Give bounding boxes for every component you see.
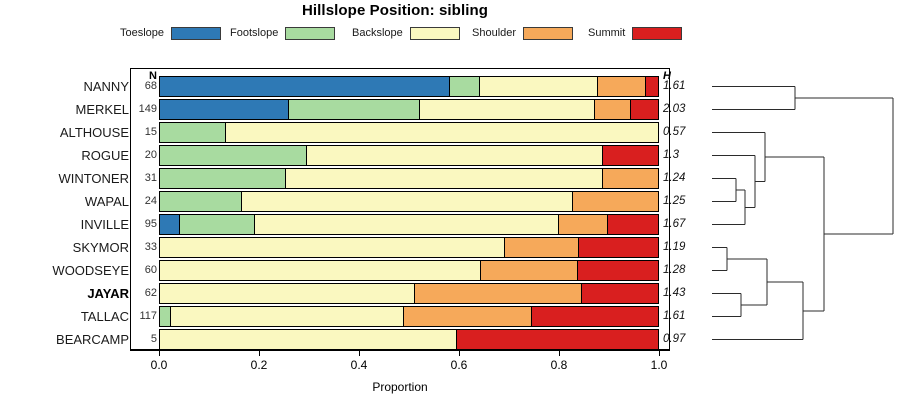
bar-segment-summit bbox=[646, 77, 658, 96]
bar-segment-backslope bbox=[160, 330, 457, 349]
legend-item-summit: Summit bbox=[588, 24, 682, 42]
legend-label: Toeslope bbox=[120, 27, 164, 39]
stacked-bar bbox=[159, 145, 659, 166]
bar-segment-backslope bbox=[242, 192, 574, 211]
bar-segment-summit bbox=[578, 261, 658, 280]
bar-segment-shoulder bbox=[559, 215, 608, 234]
stacked-bar bbox=[159, 168, 659, 189]
bar-segment-shoulder bbox=[598, 77, 646, 96]
row-label-tallac: TALLAC bbox=[0, 305, 129, 328]
bar-segment-footslope bbox=[180, 215, 255, 234]
bar-segment-backslope bbox=[420, 100, 595, 119]
stacked-bar bbox=[159, 306, 659, 327]
bar-segment-footslope bbox=[160, 146, 307, 165]
bar-segment-toeslope bbox=[160, 215, 180, 234]
bar-segment-shoulder bbox=[573, 192, 658, 211]
row-n-value: 33 bbox=[133, 236, 157, 259]
row-label-althouse: ALTHOUSE bbox=[0, 121, 129, 144]
row-label-wintoner: WINTONER bbox=[0, 167, 129, 190]
x-tick-label: 0.2 bbox=[229, 358, 289, 372]
bar-segment-toeslope bbox=[160, 100, 289, 119]
legend-swatch bbox=[523, 27, 573, 40]
row-label-nanny: NANNY bbox=[0, 75, 129, 98]
legend-item-backslope: Backslope bbox=[352, 24, 460, 42]
row-label-inville: INVILLE bbox=[0, 213, 129, 236]
row-label-rogue: ROGUE bbox=[0, 144, 129, 167]
row-label-wapal: WAPAL bbox=[0, 190, 129, 213]
row-n-value: 5 bbox=[133, 328, 157, 351]
row-n-value: 149 bbox=[133, 98, 157, 121]
bar-segment-summit bbox=[608, 215, 658, 234]
x-tick-label: 1.0 bbox=[629, 358, 689, 372]
row-n-value: 31 bbox=[133, 167, 157, 190]
legend-label: Shoulder bbox=[472, 27, 516, 39]
bar-segment-backslope bbox=[160, 284, 415, 303]
legend-item-shoulder: Shoulder bbox=[472, 24, 573, 42]
bar-segment-summit bbox=[457, 330, 658, 349]
stacked-bar bbox=[159, 122, 659, 143]
bar-segment-shoulder bbox=[404, 307, 532, 326]
bar-segment-shoulder bbox=[415, 284, 582, 303]
row-label-bearcamp: BEARCAMP bbox=[0, 328, 129, 351]
stacked-bar bbox=[159, 283, 659, 304]
row-label-jayar: JAYAR bbox=[0, 282, 129, 305]
bar-segment-summit bbox=[582, 284, 658, 303]
bar-segment-shoulder bbox=[595, 100, 631, 119]
row-n-value: 117 bbox=[133, 305, 157, 328]
bar-segment-footslope bbox=[289, 100, 419, 119]
row-n-value: 62 bbox=[133, 282, 157, 305]
row-n-value: 24 bbox=[133, 190, 157, 213]
bar-segment-backslope bbox=[160, 238, 505, 257]
x-tick-label: 0.4 bbox=[329, 358, 389, 372]
chart-title: Hillslope Position: sibling bbox=[0, 2, 790, 19]
bar-segment-backslope bbox=[226, 123, 658, 142]
stacked-bar bbox=[159, 191, 659, 212]
legend-label: Footslope bbox=[230, 27, 278, 39]
bar-segment-footslope bbox=[160, 169, 286, 188]
legend-label: Backslope bbox=[352, 27, 403, 39]
bar-segment-footslope bbox=[450, 77, 480, 96]
bar-segment-footslope bbox=[160, 307, 171, 326]
row-label-merkel: MERKEL bbox=[0, 98, 129, 121]
row-n-value: 60 bbox=[133, 259, 157, 282]
x-tick-label: 0.6 bbox=[429, 358, 489, 372]
legend-label: Summit bbox=[588, 27, 625, 39]
legend-item-toeslope: Toeslope bbox=[120, 24, 221, 42]
row-label-woodseye: WOODSEYE bbox=[0, 259, 129, 282]
bar-segment-shoulder bbox=[481, 261, 579, 280]
x-tick-label: 0.0 bbox=[129, 358, 189, 372]
legend-swatch bbox=[171, 27, 221, 40]
stacked-bar bbox=[159, 214, 659, 235]
legend-item-footslope: Footslope bbox=[230, 24, 335, 42]
row-label-skymor: SKYMOR bbox=[0, 236, 129, 259]
bar-segment-backslope bbox=[480, 77, 599, 96]
stacked-bar bbox=[159, 329, 659, 350]
legend-swatch bbox=[632, 27, 682, 40]
stacked-bar bbox=[159, 99, 659, 120]
legend-swatch bbox=[285, 27, 335, 40]
bar-segment-summit bbox=[579, 238, 658, 257]
dendrogram bbox=[680, 60, 900, 360]
bar-segment-backslope bbox=[171, 307, 404, 326]
bar-segment-summit bbox=[631, 100, 658, 119]
bar-segment-backslope bbox=[160, 261, 481, 280]
bar-segment-summit bbox=[603, 146, 658, 165]
stacked-bar bbox=[159, 260, 659, 281]
x-tick-label: 0.8 bbox=[529, 358, 589, 372]
stacked-bar bbox=[159, 76, 659, 97]
stacked-bar bbox=[159, 237, 659, 258]
bar-segment-toeslope bbox=[160, 77, 450, 96]
bar-segment-shoulder bbox=[505, 238, 580, 257]
row-n-value: 95 bbox=[133, 213, 157, 236]
x-axis-label: Proportion bbox=[130, 380, 670, 394]
bar-segment-backslope bbox=[286, 169, 603, 188]
bar-segment-summit bbox=[532, 307, 657, 326]
bar-segment-backslope bbox=[255, 215, 560, 234]
legend: ToeslopeFootslopeBackslopeShoulderSummit bbox=[120, 24, 680, 42]
bar-segment-backslope bbox=[307, 146, 603, 165]
bar-segment-footslope bbox=[160, 123, 226, 142]
chart-root: Hillslope Position: sibling ToeslopeFoot… bbox=[0, 0, 900, 420]
bar-segment-shoulder bbox=[603, 169, 658, 188]
row-n-value: 15 bbox=[133, 121, 157, 144]
legend-swatch bbox=[410, 27, 460, 40]
row-n-value: 68 bbox=[133, 75, 157, 98]
row-n-value: 20 bbox=[133, 144, 157, 167]
bar-segment-footslope bbox=[160, 192, 242, 211]
